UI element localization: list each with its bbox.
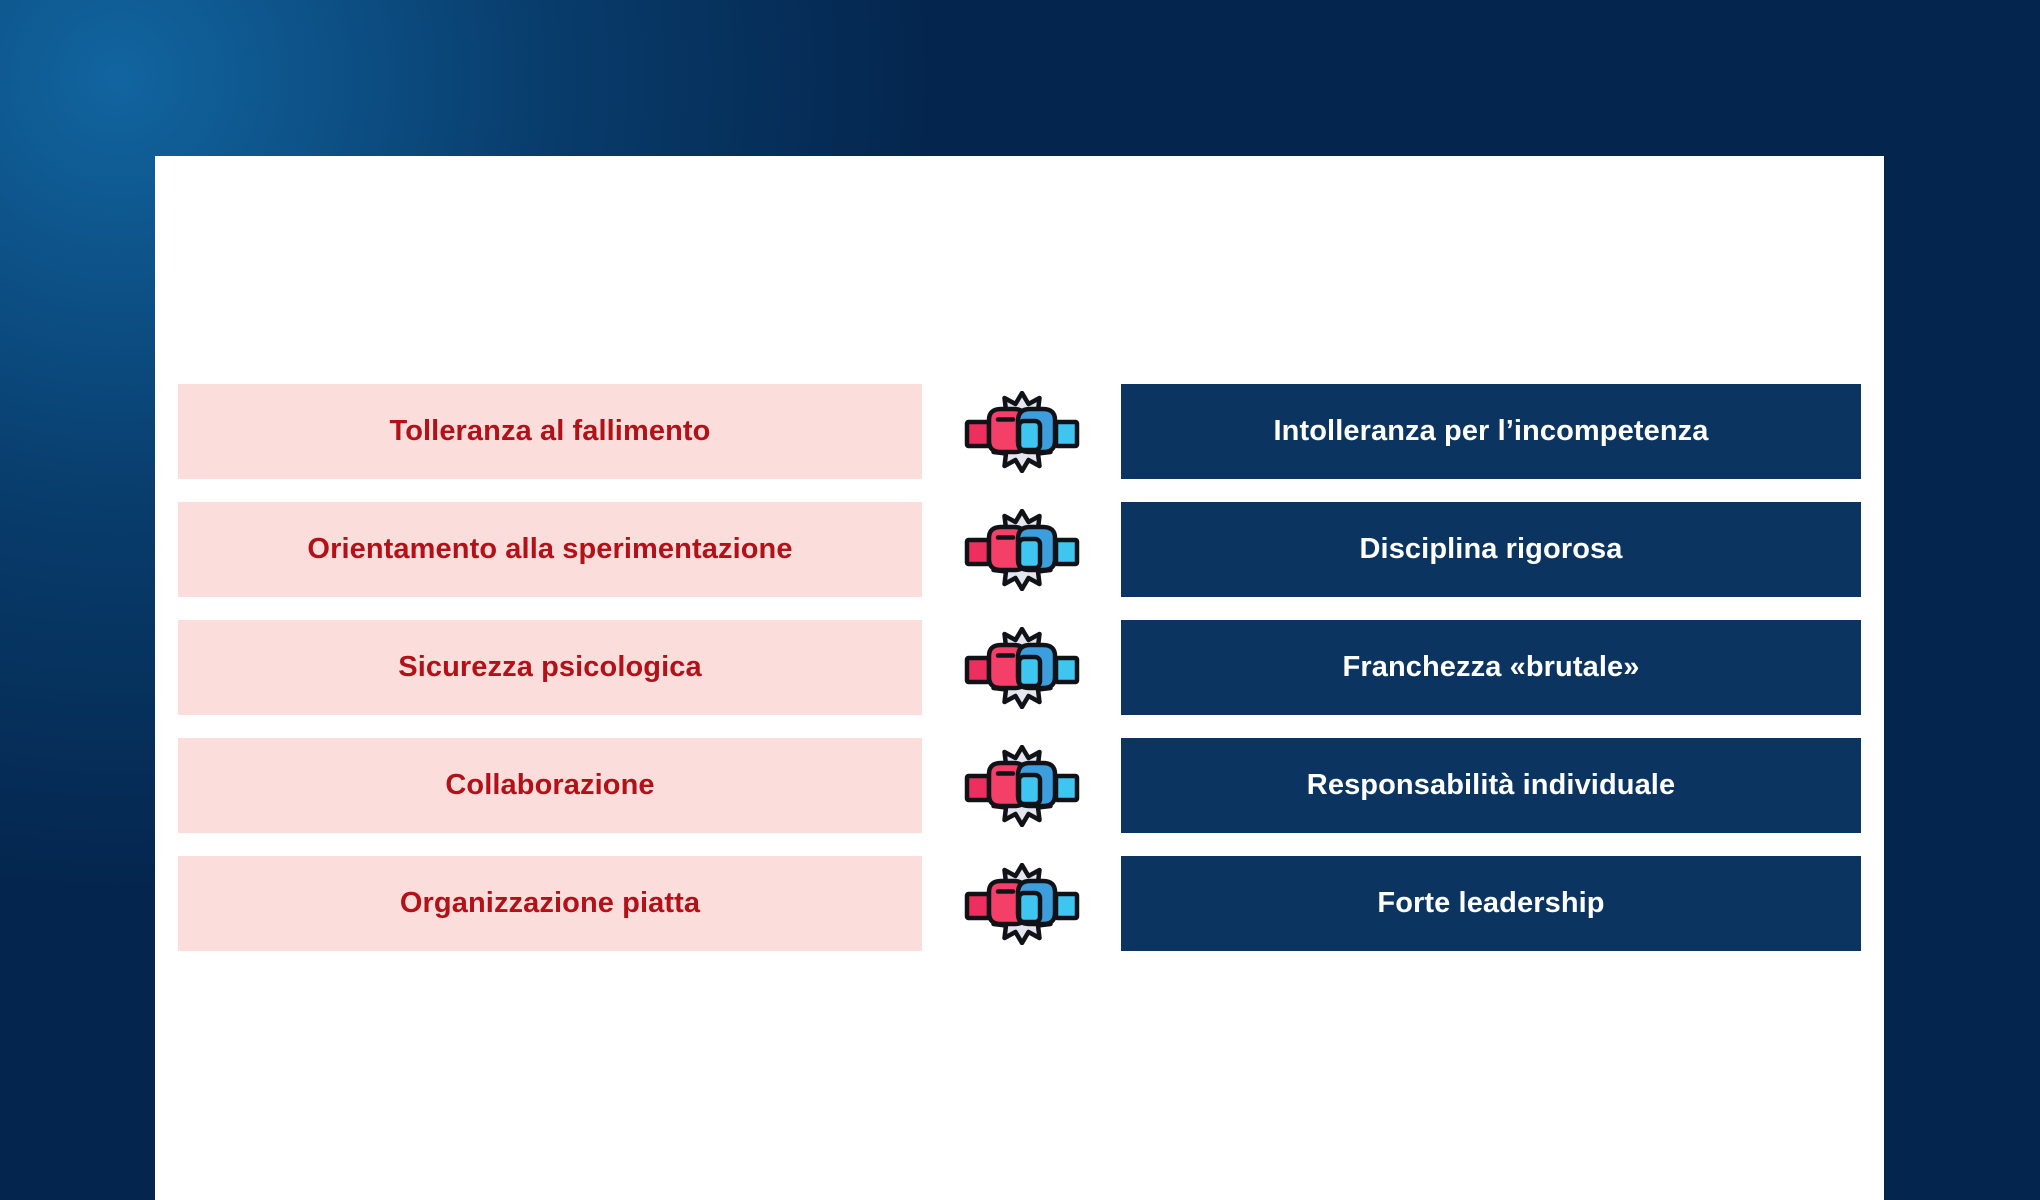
culture-trait-box-left[interactable]: Sicurezza psicologica [178, 620, 922, 715]
culture-trait-box-right[interactable]: Intolleranza per l’incompetenza [1121, 384, 1861, 479]
table-row: Orientamento alla sperimentazione [178, 502, 1861, 597]
table-row: Organizzazione piatta Forte [178, 856, 1861, 951]
culture-trait-label-left: Tolleranza al fallimento [390, 415, 711, 448]
culture-trait-label-right: Forte leadership [1377, 887, 1604, 920]
table-row: Sicurezza psicologica Franch [178, 620, 1861, 715]
fist-bump-icon [922, 384, 1121, 479]
culture-trait-box-right[interactable]: Responsabilità individuale [1121, 738, 1861, 833]
culture-trait-box-left[interactable]: Collaborazione [178, 738, 922, 833]
culture-trait-label-left: Collaborazione [445, 769, 654, 802]
culture-trait-label-left: Organizzazione piatta [400, 887, 700, 920]
culture-trait-box-right[interactable]: Disciplina rigorosa [1121, 502, 1861, 597]
culture-trait-label-right: Intolleranza per l’incompetenza [1274, 415, 1709, 448]
slide-canvas: Tolleranza al fallimento [0, 0, 2040, 1200]
culture-trait-label-left: Sicurezza psicologica [398, 651, 702, 684]
fist-bump-icon [922, 502, 1121, 597]
content-card: Tolleranza al fallimento [155, 156, 1884, 1200]
culture-trait-label-right: Franchezza «brutale» [1343, 651, 1640, 684]
culture-trait-box-left[interactable]: Organizzazione piatta [178, 856, 922, 951]
culture-trait-box-left[interactable]: Tolleranza al fallimento [178, 384, 922, 479]
table-row: Collaborazione Responsabilit [178, 738, 1861, 833]
fist-bump-icon [922, 738, 1121, 833]
culture-trait-label-right: Disciplina rigorosa [1360, 533, 1623, 566]
fist-bump-icon [922, 856, 1121, 951]
tension-matrix: Tolleranza al fallimento [178, 384, 1861, 951]
culture-trait-box-left[interactable]: Orientamento alla sperimentazione [178, 502, 922, 597]
culture-trait-box-right[interactable]: Forte leadership [1121, 856, 1861, 951]
culture-trait-label-right: Responsabilità individuale [1307, 769, 1675, 802]
culture-trait-box-right[interactable]: Franchezza «brutale» [1121, 620, 1861, 715]
table-row: Tolleranza al fallimento [178, 384, 1861, 479]
fist-bump-icon [922, 620, 1121, 715]
culture-trait-label-left: Orientamento alla sperimentazione [307, 533, 792, 566]
